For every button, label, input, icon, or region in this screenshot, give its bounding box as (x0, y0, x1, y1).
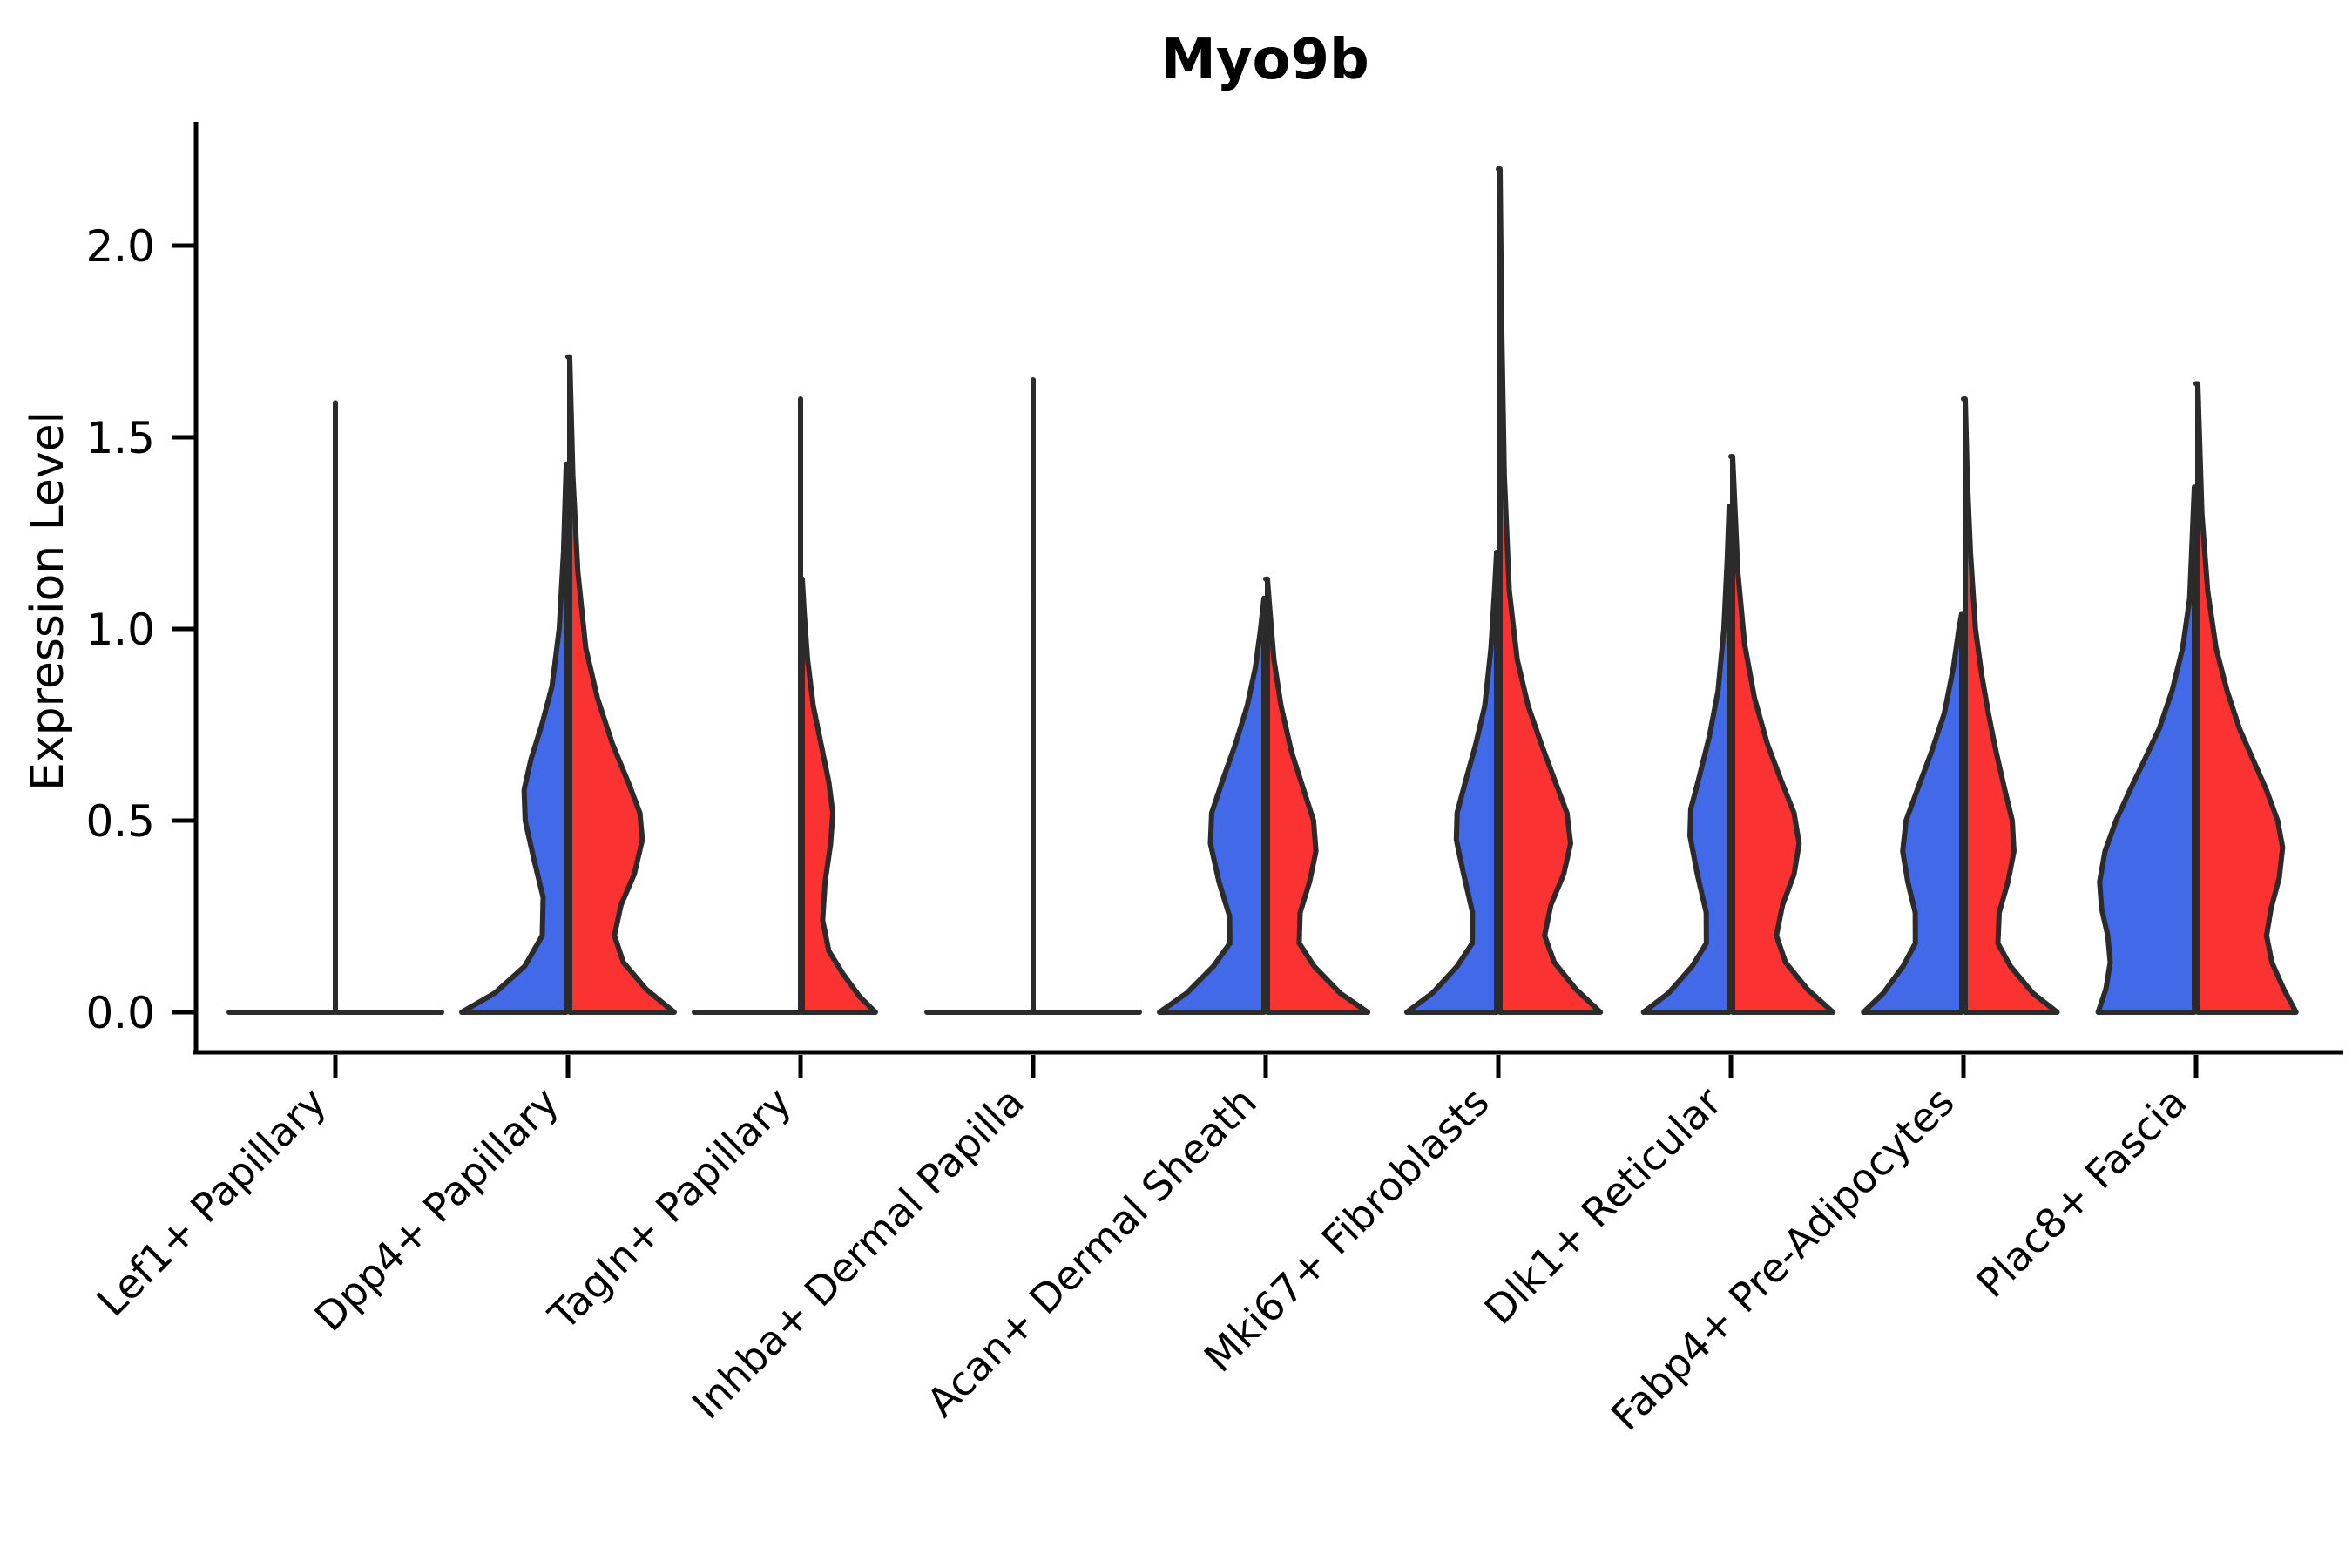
y-tick-label: 0.5 (85, 796, 155, 847)
figure-canvas: Myo9b Expression Level 0.00.51.01.52.0 L… (0, 0, 2352, 1568)
page-title: Myo9b (1160, 28, 1369, 92)
y-tick-label: 2.0 (85, 221, 155, 272)
y-tick-label: 1.0 (85, 605, 155, 655)
y-tick-label: 0.0 (85, 988, 155, 1038)
y-tick-label: 1.5 (85, 413, 155, 463)
y-axis-label: Expression Level (22, 411, 74, 791)
violin-plot-svg: Myo9b Expression Level 0.00.51.01.52.0 L… (0, 0, 2352, 1568)
